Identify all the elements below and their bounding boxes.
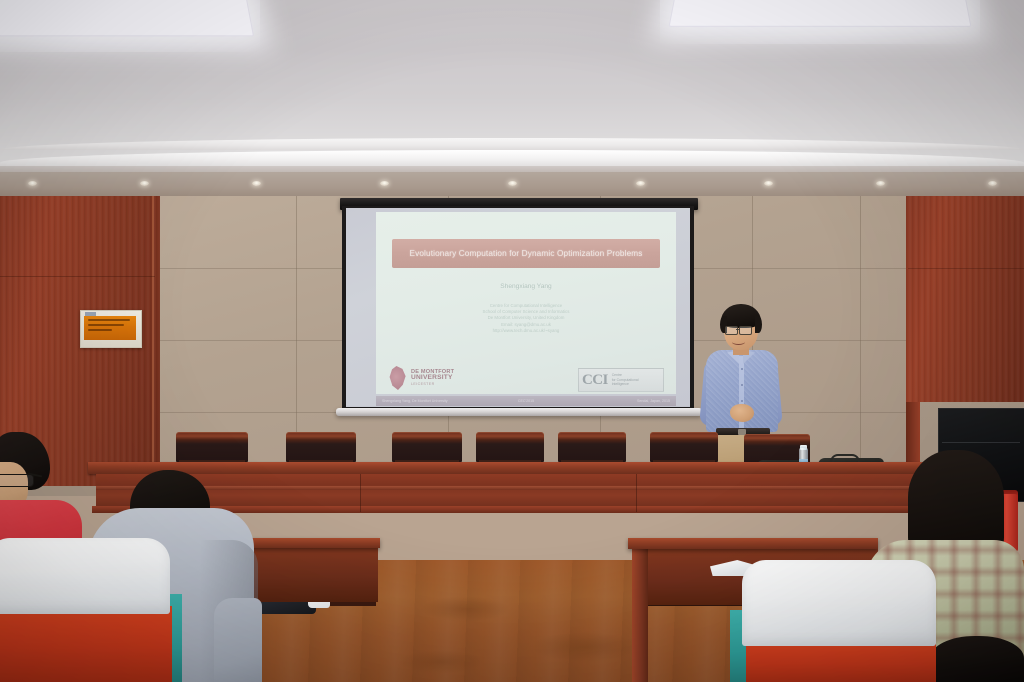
slide-footer: Shengxiang Yang, De Montfort University …: [376, 396, 676, 406]
wood-panel-seam: [908, 268, 1024, 269]
affiliation-line: http://www.tech.dmu.ac.uk/~syang: [392, 328, 660, 334]
presenter-hair-side: [755, 316, 762, 333]
slide-footer-left: Shengxiang Yang, De Montfort University: [382, 399, 518, 403]
shirt-button-icon: [741, 400, 743, 402]
chair-back: [558, 432, 626, 462]
display-bezel-line: [942, 442, 1020, 443]
audience-chair-red-back: [0, 606, 172, 682]
slide-title-band: Evolutionary Computation for Dynamic Opt…: [392, 239, 660, 268]
cci-logo-letters: CCI: [582, 372, 608, 389]
glasses-icon: [739, 326, 752, 335]
audience-chair-red-back: [746, 640, 936, 682]
downlight-icon: [380, 181, 389, 186]
right-wood-wall-panel: [906, 196, 1024, 402]
downlight-icon: [988, 181, 997, 186]
audience-chair-cover: [0, 538, 170, 614]
stage-table-front: [96, 474, 946, 510]
shirt-button-icon: [741, 384, 743, 386]
stage-table-top: [88, 462, 954, 474]
audience-desk-right-top: [628, 538, 878, 549]
presenter-smile: [732, 339, 745, 345]
dmu-logo-text: DE MONTFORT UNIVERSITY LEICESTER: [411, 369, 454, 388]
sign-badge-icon: [85, 312, 96, 316]
sign-text-line: [88, 329, 112, 331]
dmu-logo: DE MONTFORT UNIVERSITY LEICESTER: [388, 365, 480, 391]
dmu-logo-line3: LEICESTER: [411, 381, 454, 387]
cci-logo-subtitle: Centre for Computational Intelligence: [612, 373, 639, 387]
presenter-hands: [730, 404, 754, 422]
chair-back: [286, 432, 356, 462]
table-seam: [636, 474, 637, 512]
downlight-icon: [28, 181, 37, 186]
audience-chair-cover: [742, 560, 936, 646]
stage-table-moulding: [96, 486, 946, 490]
sign-text-line: [88, 319, 130, 321]
chair-back: [650, 432, 718, 462]
audience-desk-left-top: [232, 538, 380, 548]
audience-desk-left-front: [238, 548, 378, 602]
chair-back: [392, 432, 462, 462]
slide-footer-right: Sendai, Japan, 2015: [534, 399, 670, 403]
ceiling-light-panel-right: [669, 0, 972, 27]
sign-text-line: [88, 324, 124, 326]
chair-back: [176, 432, 248, 462]
panel-seam: [860, 196, 861, 464]
ceiling-light-panel-left: [0, 0, 254, 36]
projector-screen-roller-bar: [336, 408, 702, 416]
downlight-icon: [252, 181, 261, 186]
downlight-icon: [508, 181, 517, 186]
shirt-button-icon: [741, 368, 743, 370]
wood-panel-edge: [152, 196, 154, 486]
floor-grain: [420, 596, 510, 622]
wood-panel-seam: [0, 276, 155, 277]
slide-affiliation: Centre for Computational Intelligence Sc…: [392, 303, 660, 334]
wall-notice-sign: [84, 316, 136, 340]
downlight-icon: [876, 181, 885, 186]
downlight-icon: [636, 181, 645, 186]
glasses-icon: [725, 326, 738, 335]
downlight-icon: [140, 181, 149, 186]
audience-desk-right-leg: [632, 549, 648, 682]
panel-seam: [296, 196, 297, 464]
downlight-icon: [764, 181, 773, 186]
slide-title: Evolutionary Computation for Dynamic Opt…: [403, 249, 648, 259]
conference-room-photo: Evolutionary Computation for Dynamic Opt…: [0, 0, 1024, 682]
slide-footer-middle: CEC'2015: [518, 399, 534, 403]
cci-subtitle-line: Intelligence: [612, 382, 639, 387]
audience-front-head: [930, 636, 1024, 682]
table-seam: [360, 474, 361, 512]
cci-logo: CCI Centre for Computational Intelligenc…: [578, 368, 664, 392]
dmu-crest-icon: [388, 366, 408, 390]
floor-grain: [398, 650, 484, 674]
glasses-bridge-icon: [736, 329, 740, 330]
glasses-icon: [0, 474, 34, 487]
slide-author: Shengxiang Yang: [392, 283, 660, 290]
chair-back: [476, 432, 544, 462]
audience-gray-shirt-arm: [214, 598, 262, 682]
floor-grain: [530, 632, 640, 662]
